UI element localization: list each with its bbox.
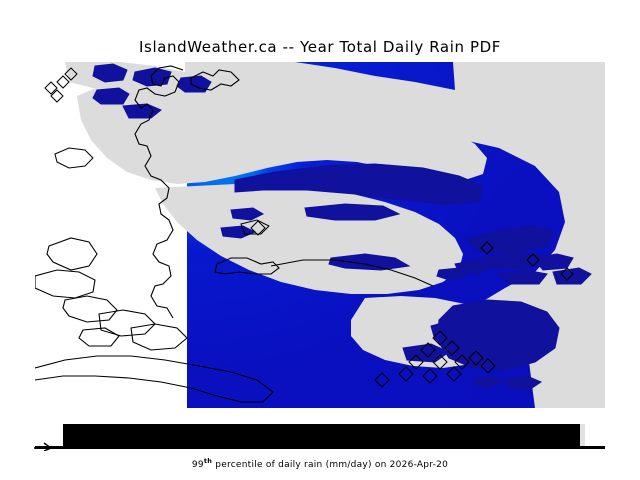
coastline-layer: [35, 62, 605, 408]
page-title: IslandWeather.ca -- Year Total Daily Rai…: [0, 38, 640, 56]
colorbar-axis-line: [35, 446, 605, 449]
colorbar-arrow-icon: [34, 441, 52, 451]
caption-percentile-suffix: th: [204, 457, 212, 465]
caption-percentile-number: 99: [192, 460, 204, 470]
inland-water-bodies: [93, 64, 591, 390]
map-panel[interactable]: [35, 62, 605, 408]
colorbar[interactable]: [63, 424, 583, 446]
colorbar-end-cap: [580, 424, 585, 446]
colorbar-caption: 99th percentile of daily rain (mm/day) o…: [0, 457, 640, 470]
caption-text: percentile of daily rain (mm/day) on 202…: [212, 460, 448, 470]
colorbar-fill: [63, 424, 581, 446]
